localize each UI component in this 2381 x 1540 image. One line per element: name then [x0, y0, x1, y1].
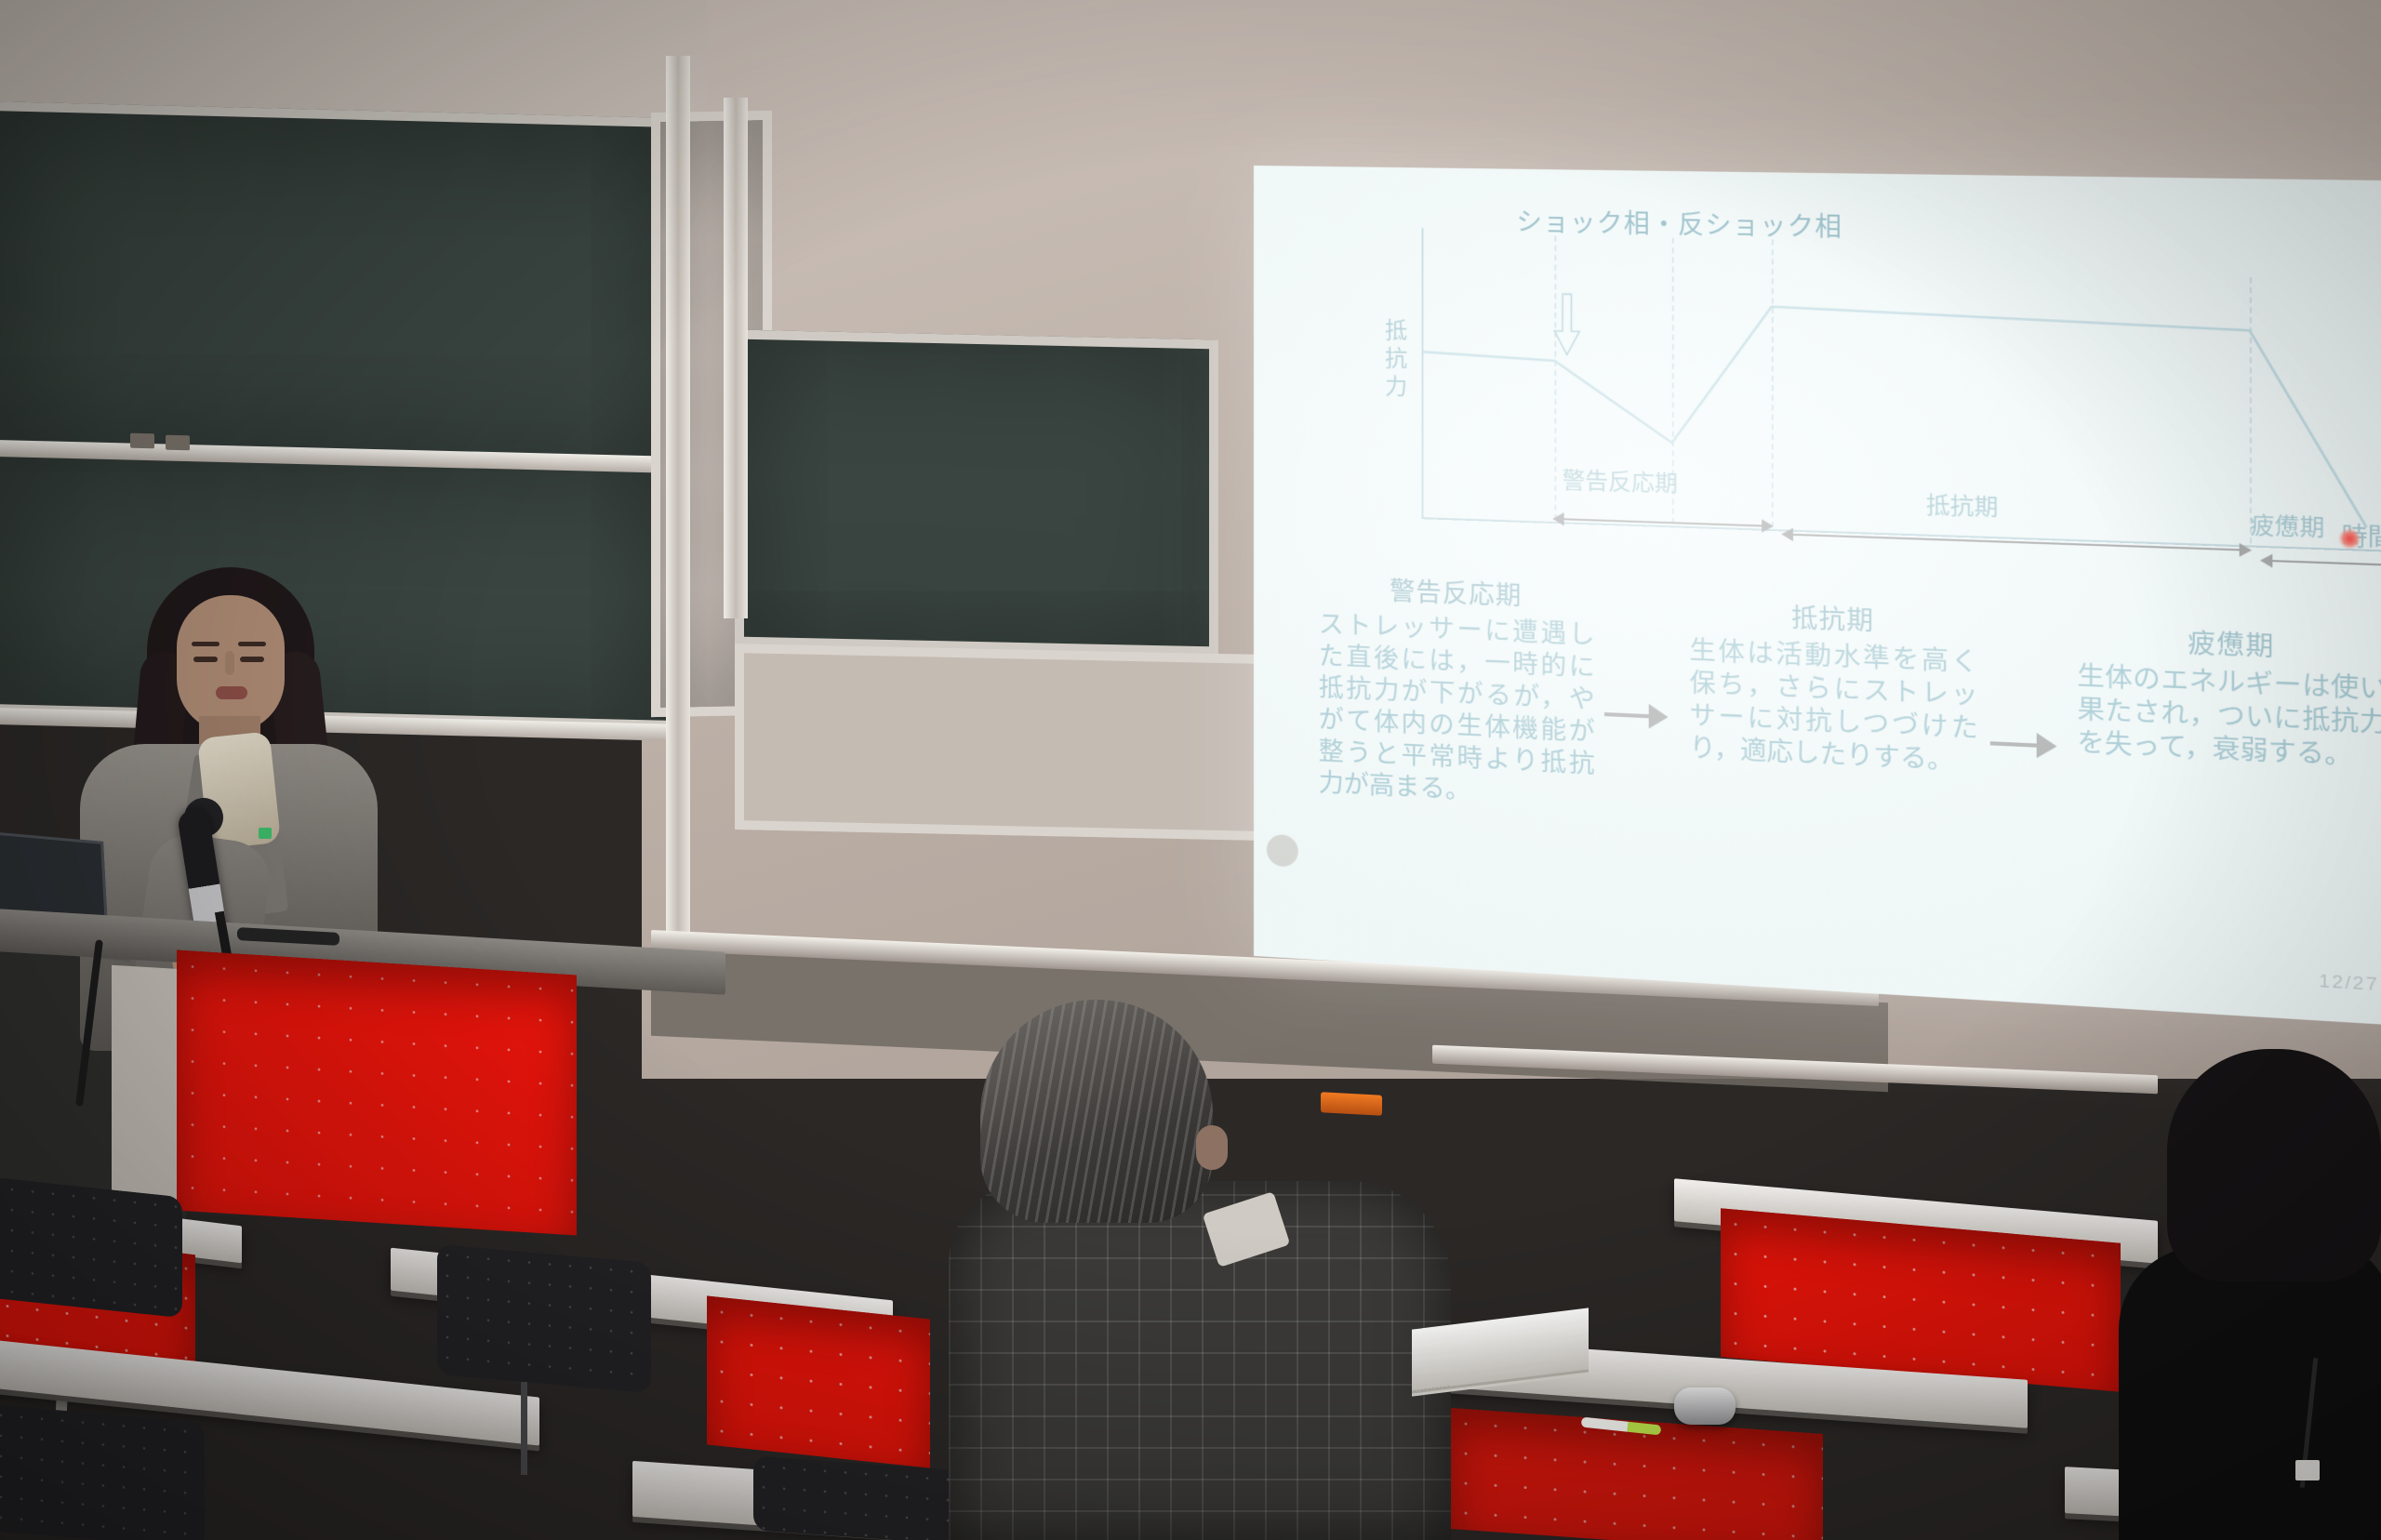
presenter-mouth — [216, 686, 247, 699]
audience-2-clothing — [2119, 1246, 2381, 1540]
slide-text-columns: 警告反応期 ストレッサーに遭遇した直後には，一時的に抵抗力が下がるが，やがて体内… — [1319, 568, 2381, 938]
board-eraser-icon — [1321, 1092, 1382, 1115]
chair-1-back[interactable] — [0, 1176, 182, 1319]
projection-screen: ショック相・反ショック相 抵抗力 警告反応期 — [1254, 166, 2381, 1029]
audience-1-jacket — [949, 1181, 1451, 1540]
slide-column-1: 警告反応期 ストレッサーに遭遇した直後には，一時的に抵抗力が下がるが，やがて体内… — [1319, 568, 1595, 813]
chalk-piece-a — [130, 433, 154, 449]
chair-3-back[interactable] — [0, 1404, 205, 1540]
chalk-piece-b — [166, 435, 190, 451]
chart-phase-label-1: 警告反応期 — [1563, 461, 1678, 498]
slide-column-2-heading: 抵抗期 — [1690, 593, 1978, 642]
podium-front-panel — [177, 949, 577, 1235]
stressor-down-arrow-icon — [1552, 281, 1581, 368]
chalkboard-center — [735, 330, 1218, 657]
flow-arrow-2-icon — [1990, 731, 2057, 759]
chair-2-back[interactable] — [437, 1244, 651, 1393]
stress-response-chart: ショック相・反ショック相 抵抗力 警告反応期 — [1310, 204, 2381, 578]
audience-2-head — [2167, 1049, 2381, 1281]
presenter-eye-right — [240, 657, 264, 662]
board-frame-vertical-left — [666, 56, 690, 986]
watch-icon — [1674, 1387, 1736, 1425]
presenter-eyebrow-right — [238, 642, 266, 646]
chart-phase-label-3: 疲憊期 — [2250, 506, 2325, 543]
flow-arrow-1-icon — [1604, 702, 1669, 730]
slide-column-2-body: 生体は活動水準を高く保ち，さらにストレッサーに対抗しつづけたり，適応したりする。 — [1690, 634, 1978, 777]
chart-series-resistance — [1310, 204, 2381, 578]
board-frame-vertical-right — [724, 98, 748, 618]
slide-column-1-body: ストレッサーに遭遇した直後には，一時的に抵抗力が下がるが，やがて体内の生体機能が… — [1319, 608, 1595, 813]
presenter-nose — [225, 651, 234, 675]
slide-column-3: 疲憊期 生体のエネルギーは使い果たされ，ついに抵抗力を失って，衰弱する。 — [2077, 617, 2381, 774]
student-desk-panel-3 — [707, 1295, 930, 1467]
slide-column-1-heading: 警告反応期 — [1319, 568, 1595, 616]
laser-pointer-dot — [2339, 528, 2361, 549]
lecture-hall-scene: ショック相・反ショック相 抵抗力 警告反応期 — [0, 0, 2381, 1540]
slide-page-number: 12/27 — [2319, 971, 2379, 996]
chalkboard-upper-left — [0, 101, 675, 471]
slide-content: ショック相・反ショック相 抵抗力 警告反応期 — [1254, 166, 2381, 1029]
audience-1-hair — [980, 1000, 1213, 1223]
chalkboard-lower-left — [0, 444, 675, 730]
audience-1-head — [980, 1000, 1213, 1223]
slide-column-2: 抵抗期 生体は活動水準を高く保ち，さらにストレッサーに対抗しつづけたり，適応した… — [1690, 593, 1978, 778]
audience-1-ear — [1196, 1125, 1228, 1170]
presenter-badge-pin — [259, 828, 272, 839]
presenter-eye-left — [193, 657, 218, 662]
audience-2-tag — [2295, 1460, 2320, 1480]
chair-2-leg — [521, 1382, 527, 1475]
slide-corner-dot-icon — [1267, 834, 1298, 868]
slide-column-3-body: 生体のエネルギーは使い果たされ，ついに抵抗力を失って，衰弱する。 — [2077, 659, 2381, 774]
chart-phase-label-2: 抵抗期 — [1926, 486, 1999, 523]
presenter-eyebrow-left — [192, 642, 219, 646]
upper-left-wall — [0, 0, 707, 121]
